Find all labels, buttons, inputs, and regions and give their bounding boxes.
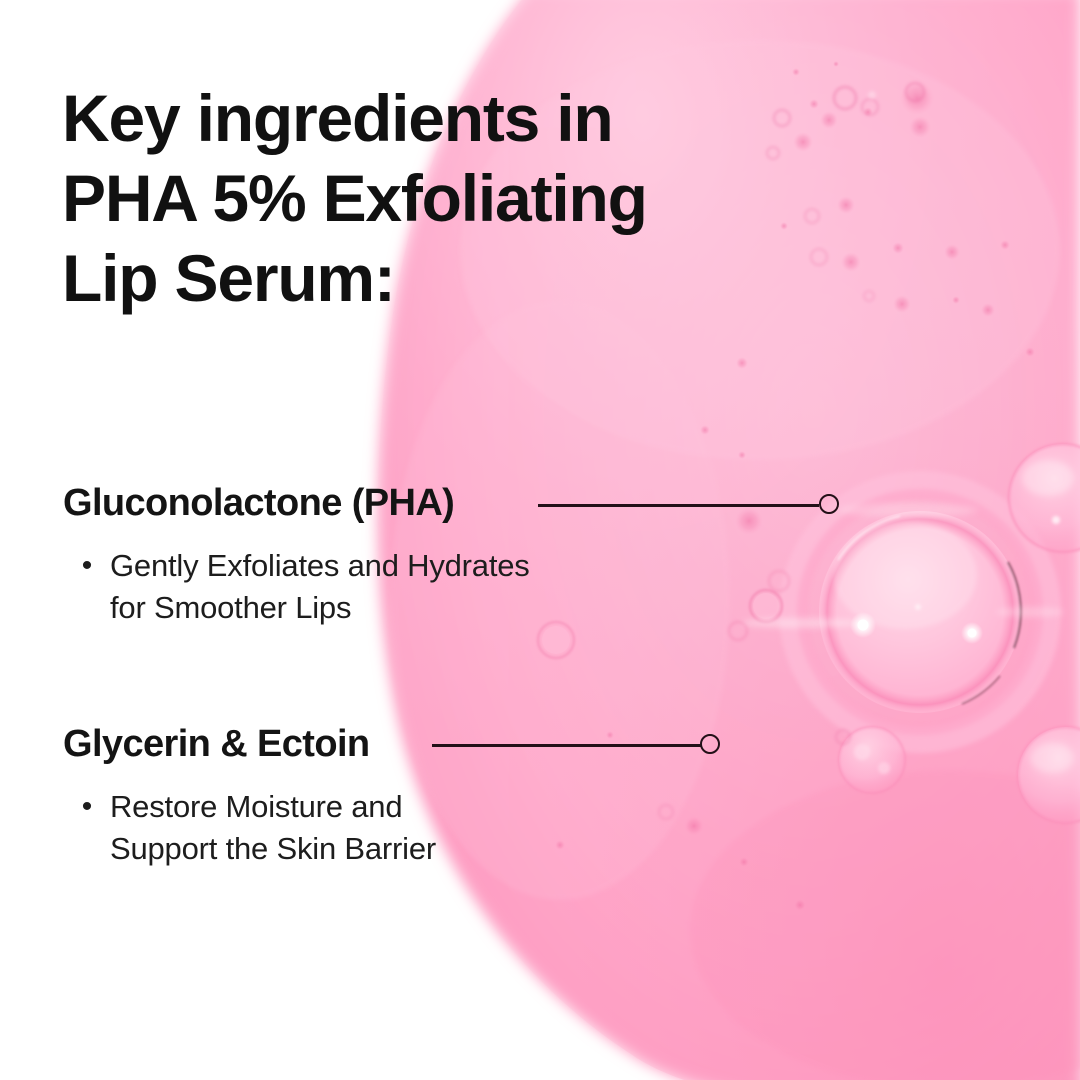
ingredient-1-bullet-text: Gently Exfoliates and Hydrates for Smoot… bbox=[110, 545, 530, 629]
leader-endpoint-circle-2 bbox=[700, 734, 720, 754]
infographic-canvas: Key ingredients in PHA 5% Exfoliating Li… bbox=[0, 0, 1080, 1080]
text-layer: Key ingredients in PHA 5% Exfoliating Li… bbox=[0, 0, 1080, 1080]
ingredient-2-bullet: • Restore Moisture and Support the Skin … bbox=[78, 786, 436, 870]
leader-line-1 bbox=[538, 504, 819, 507]
ingredient-1-bullet: • Gently Exfoliates and Hydrates for Smo… bbox=[78, 545, 530, 629]
ingredient-2-bullet-text: Restore Moisture and Support the Skin Ba… bbox=[110, 786, 436, 870]
page-title: Key ingredients in PHA 5% Exfoliating Li… bbox=[62, 78, 762, 318]
ingredient-1-title: Gluconolactone (PHA) bbox=[63, 481, 454, 525]
leader-line-2 bbox=[432, 744, 701, 747]
bullet-marker-icon: • bbox=[78, 786, 96, 828]
bullet-marker-icon: • bbox=[78, 545, 96, 587]
ingredient-2-title: Glycerin & Ectoin bbox=[63, 722, 370, 766]
leader-endpoint-circle-1 bbox=[819, 494, 839, 514]
